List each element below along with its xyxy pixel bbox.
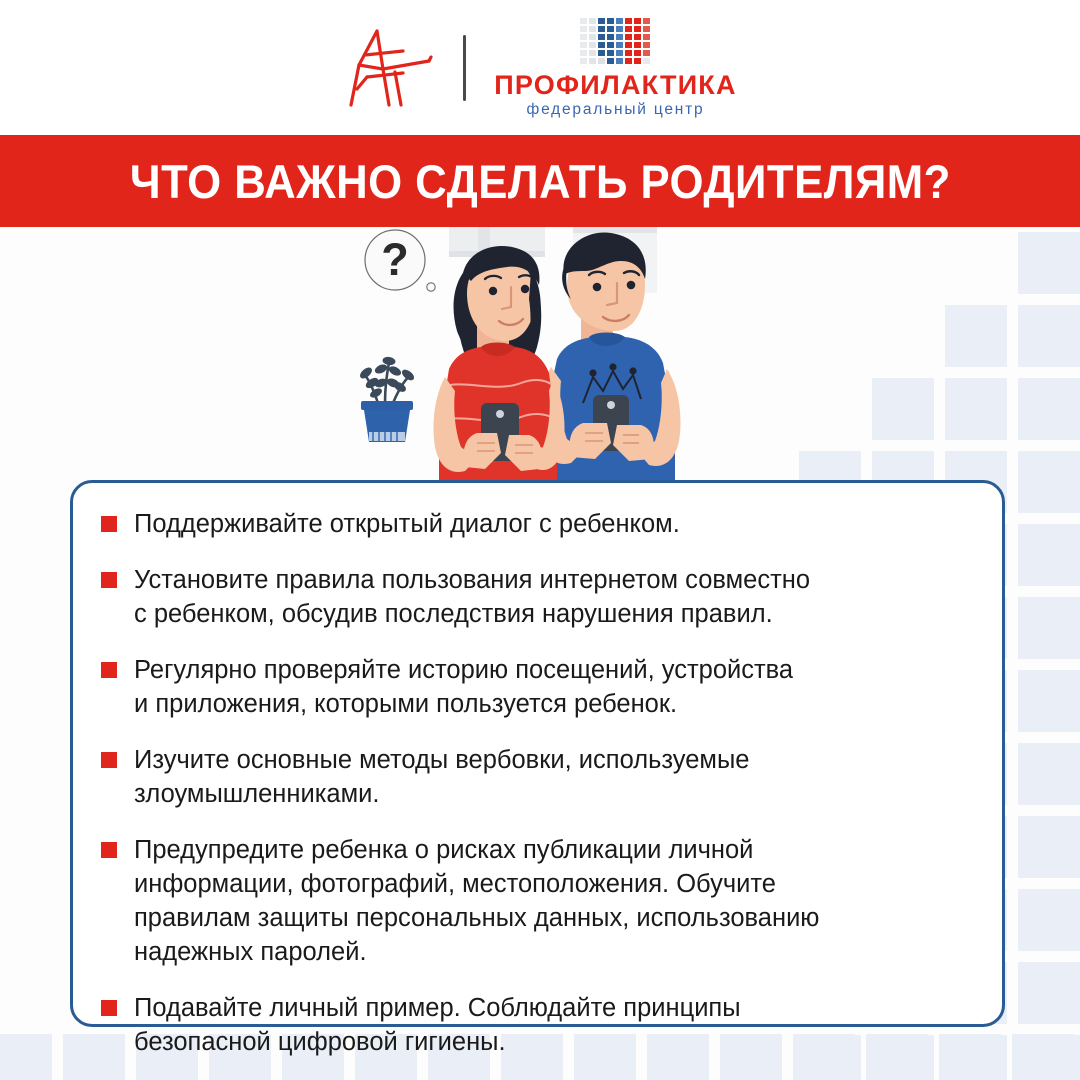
title-band: ЧТО ВАЖНО СДЕЛАТЬ РОДИТЕЛЯМ?: [0, 135, 1080, 227]
logo-grid-cell: [625, 50, 632, 56]
list-item-text: Регулярно проверяйте историю посещений, …: [134, 653, 978, 721]
brand-subtitle: федеральный центр: [527, 102, 705, 118]
logo-grid-cell: [607, 18, 614, 24]
logo-grid-cell: [589, 26, 596, 32]
list-item: Изучите основные методы вербовки, исполь…: [101, 743, 978, 811]
page-title: ЧТО ВАЖНО СДЕЛАТЬ РОДИТЕЛЯМ?: [130, 154, 951, 209]
logo-grid-cell: [580, 42, 587, 48]
vertical-divider: [463, 35, 466, 101]
man-with-phone: [539, 232, 680, 495]
logo-grid-cell: [634, 42, 641, 48]
background-square: [1018, 305, 1080, 367]
logo-grid-cell: [625, 58, 632, 64]
list-item: Предупредите ребенка о рисках публикации…: [101, 833, 978, 969]
logo-grid-cell: [589, 58, 596, 64]
logo-grid-cell: [598, 26, 605, 32]
logo-grid-cell: [634, 26, 641, 32]
background-square: [1018, 670, 1080, 732]
list-item: Поддерживайте открытый диалог с ребенком…: [101, 507, 978, 541]
woman-with-phone: [433, 246, 564, 495]
list-item-text: Изучите основные методы вербовки, исполь…: [134, 743, 978, 811]
logo-grid-cell: [625, 18, 632, 24]
background-square: [1018, 889, 1080, 951]
logo-grid-cell: [607, 26, 614, 32]
logo-grid-cell: [607, 42, 614, 48]
logo-grid-cell: [580, 18, 587, 24]
logo-grid-cell: [616, 50, 623, 56]
logo-grid-cell: [625, 26, 632, 32]
background-square: [945, 378, 1007, 440]
logo-grid-cell: [598, 42, 605, 48]
logo-grid-cell: [607, 58, 614, 64]
thought-bubble: ?: [365, 230, 435, 291]
header: ПРОФИЛАКТИКА федеральный центр: [0, 0, 1080, 135]
logo-grid-cell: [580, 34, 587, 40]
background-square: [1018, 1035, 1080, 1080]
list-item-text: Установите правила пользования интернето…: [134, 563, 978, 631]
svg-text:?: ?: [381, 234, 409, 285]
logo-grid-cell: [580, 26, 587, 32]
potted-plant: [358, 356, 416, 442]
infographic-poster: ПРОФИЛАКТИКА федеральный центр ЧТО ВАЖНО…: [0, 0, 1080, 1080]
logo-grid-cell: [634, 58, 641, 64]
recommendations-list: Поддерживайте открытый диалог с ребенком…: [101, 507, 978, 1059]
logo-grid-cell: [634, 18, 641, 24]
logo-grid-cell: [607, 50, 614, 56]
logo-grid-cell: [598, 18, 605, 24]
logo-grid-cell: [616, 34, 623, 40]
parents-with-smartphones-illustration: ?: [345, 227, 735, 495]
logo-grid-cell: [625, 42, 632, 48]
logo-grid-cell: [589, 18, 596, 24]
background-square: [945, 305, 1007, 367]
logo-grid-cell: [598, 50, 605, 56]
logo-grid-cell: [589, 34, 596, 40]
logo-grid-cell: [634, 34, 641, 40]
logo-grid-cell: [616, 42, 623, 48]
background-square: [1012, 1034, 1074, 1080]
background-square: [0, 1034, 52, 1080]
list-item-text: Предупредите ребенка о рисках публикации…: [134, 833, 978, 969]
background-square: [1018, 743, 1080, 805]
logo-grid-cell: [580, 50, 587, 56]
logo-grid-cell: [643, 42, 650, 48]
bullet-square-icon: [101, 1000, 117, 1016]
logo-grid-cell: [616, 26, 623, 32]
logo-grid-cell: [598, 58, 605, 64]
bullet-square-icon: [101, 572, 117, 588]
recommendations-card: Поддерживайте открытый диалог с ребенком…: [70, 480, 1005, 1027]
logo-grid-cell: [580, 58, 587, 64]
logo-grid-cell: [625, 34, 632, 40]
bullet-square-icon: [101, 516, 117, 532]
background-square: [1018, 524, 1080, 586]
bullet-square-icon: [101, 662, 117, 678]
list-item: Установите правила пользования интернето…: [101, 563, 978, 631]
logo-grid-cell: [643, 18, 650, 24]
square-grid-logo-mark: [580, 18, 650, 64]
chair-line-art-logo: [343, 25, 435, 111]
logo-grid-cell: [616, 18, 623, 24]
list-item: Подавайте личный пример. Соблюдайте прин…: [101, 991, 978, 1059]
logo-grid-cell: [643, 26, 650, 32]
background-square: [1018, 962, 1080, 1024]
logo-grid-cell: [643, 50, 650, 56]
logo-grid-cell: [643, 58, 650, 64]
logo-grid-cell: [589, 50, 596, 56]
brand-name: ПРОФИЛАКТИКА: [494, 72, 736, 99]
logo-grid-cell: [589, 42, 596, 48]
logo-grid-cell: [607, 34, 614, 40]
bullet-square-icon: [101, 842, 117, 858]
list-item-text: Подавайте личный пример. Соблюдайте прин…: [134, 991, 978, 1059]
list-item-text: Поддерживайте открытый диалог с ребенком…: [134, 507, 978, 541]
logo-grid-cell: [598, 34, 605, 40]
background-square: [1018, 816, 1080, 878]
background-square: [1018, 232, 1080, 294]
profilaktika-logo: ПРОФИЛАКТИКА федеральный центр: [494, 18, 736, 118]
logo-grid-cell: [616, 58, 623, 64]
logo-grid-cell: [643, 34, 650, 40]
background-square: [1018, 597, 1080, 659]
background-square: [1018, 378, 1080, 440]
background-square: [872, 378, 934, 440]
background-square: [1018, 451, 1080, 513]
logo-grid-cell: [634, 50, 641, 56]
bullet-square-icon: [101, 752, 117, 768]
list-item: Регулярно проверяйте историю посещений, …: [101, 653, 978, 721]
